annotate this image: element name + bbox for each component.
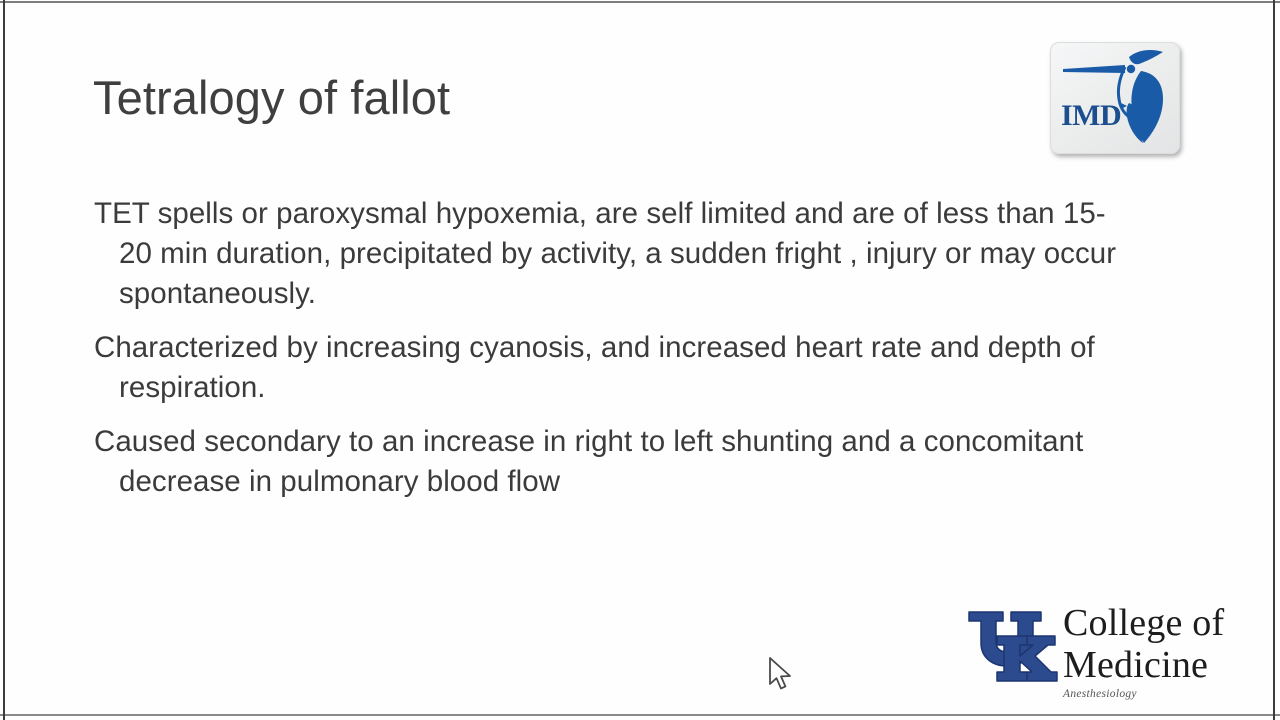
window-frame-right-edge [1273, 0, 1275, 720]
uk-college-of-medicine-logo: College of Medicine Anesthesiology [963, 604, 1228, 704]
imd-logo-text: IMD [1061, 101, 1121, 131]
arrow-pointer-icon [766, 656, 798, 696]
body-paragraph-2: Characterized by increasing cyanosis, an… [94, 328, 1129, 408]
window-frame-left-edge [3, 0, 5, 720]
slide-body: TET spells or paroxysmal hypoxemia, are … [94, 194, 1129, 502]
body-paragraph-3: Caused secondary to an increase in right… [94, 422, 1129, 502]
uk-monogram-icon [963, 606, 1059, 686]
window-frame-top-edge [0, 1, 1280, 3]
presentation-slide: Tetralogy of fallot TET spells or paroxy… [0, 0, 1280, 720]
uk-wordmark-line-1: College of [1063, 602, 1224, 644]
body-paragraph-1: TET spells or paroxysmal hypoxemia, are … [94, 194, 1129, 314]
imd-logo: IMD [1050, 42, 1180, 154]
window-frame-bottom-edge [0, 714, 1280, 716]
uk-department-label: Anesthesiology [1063, 688, 1137, 700]
uk-wordmark-line-2: Medicine [1063, 644, 1224, 686]
uk-wordmark: College of Medicine [1063, 602, 1224, 686]
kingfisher-bird-icon [1051, 43, 1179, 153]
slide-title: Tetralogy of fallot [93, 72, 450, 124]
